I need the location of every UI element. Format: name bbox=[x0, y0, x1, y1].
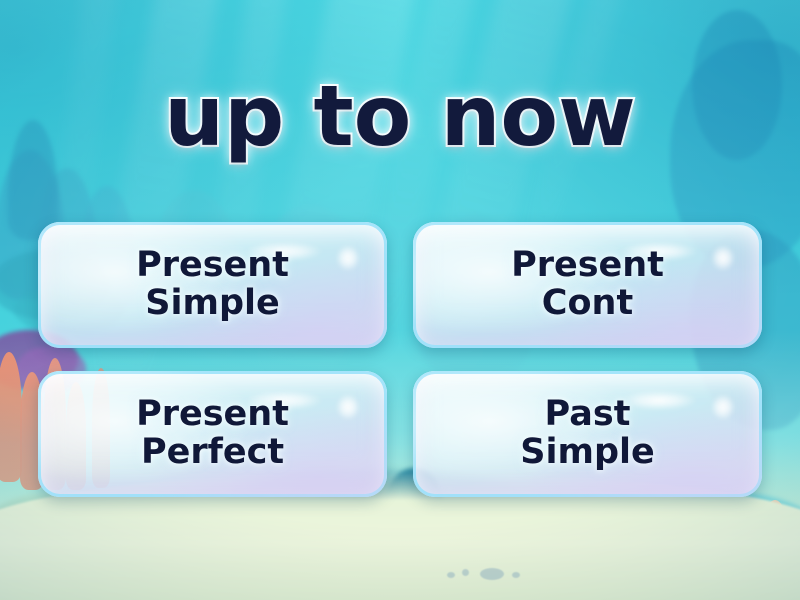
answer-option-label: Past Simple bbox=[512, 396, 662, 472]
answer-option-label: Present Simple bbox=[128, 247, 297, 323]
pebble bbox=[447, 572, 455, 578]
pebble bbox=[480, 568, 504, 580]
orange-finger-coral bbox=[720, 512, 748, 600]
green-rock bbox=[58, 506, 198, 600]
bubble-highlight-icon bbox=[336, 394, 360, 420]
orange-finger-coral bbox=[608, 546, 630, 600]
pebble bbox=[512, 572, 520, 578]
answer-option-label: Present Perfect bbox=[128, 396, 297, 472]
orange-finger-coral bbox=[680, 524, 706, 600]
green-rock bbox=[0, 494, 120, 600]
orange-finger-coral bbox=[760, 500, 790, 600]
brain-coral bbox=[562, 512, 692, 600]
bubble-highlight-icon bbox=[711, 245, 735, 271]
pebble bbox=[462, 569, 469, 576]
question-prompt: up to now bbox=[0, 74, 800, 158]
orange-finger-coral bbox=[642, 534, 666, 600]
orange-finger-coral bbox=[0, 352, 22, 482]
bubble-highlight-icon bbox=[711, 394, 735, 420]
brain-coral bbox=[620, 492, 800, 600]
answer-option-2[interactable]: Present Cont bbox=[413, 222, 762, 348]
green-rock bbox=[0, 548, 190, 600]
answer-option-1[interactable]: Present Simple bbox=[38, 222, 387, 348]
answer-option-4[interactable]: Past Simple bbox=[413, 371, 762, 497]
answer-option-3[interactable]: Present Perfect bbox=[38, 371, 387, 497]
answer-option-label: Present Cont bbox=[503, 247, 672, 323]
answer-options-grid: Present Simple Present Cont Present Perf… bbox=[38, 222, 762, 497]
bubble-highlight-icon bbox=[336, 245, 360, 271]
green-rock bbox=[150, 520, 300, 600]
quiz-screen: up to now Present Simple Present Cont Pr… bbox=[0, 0, 800, 600]
